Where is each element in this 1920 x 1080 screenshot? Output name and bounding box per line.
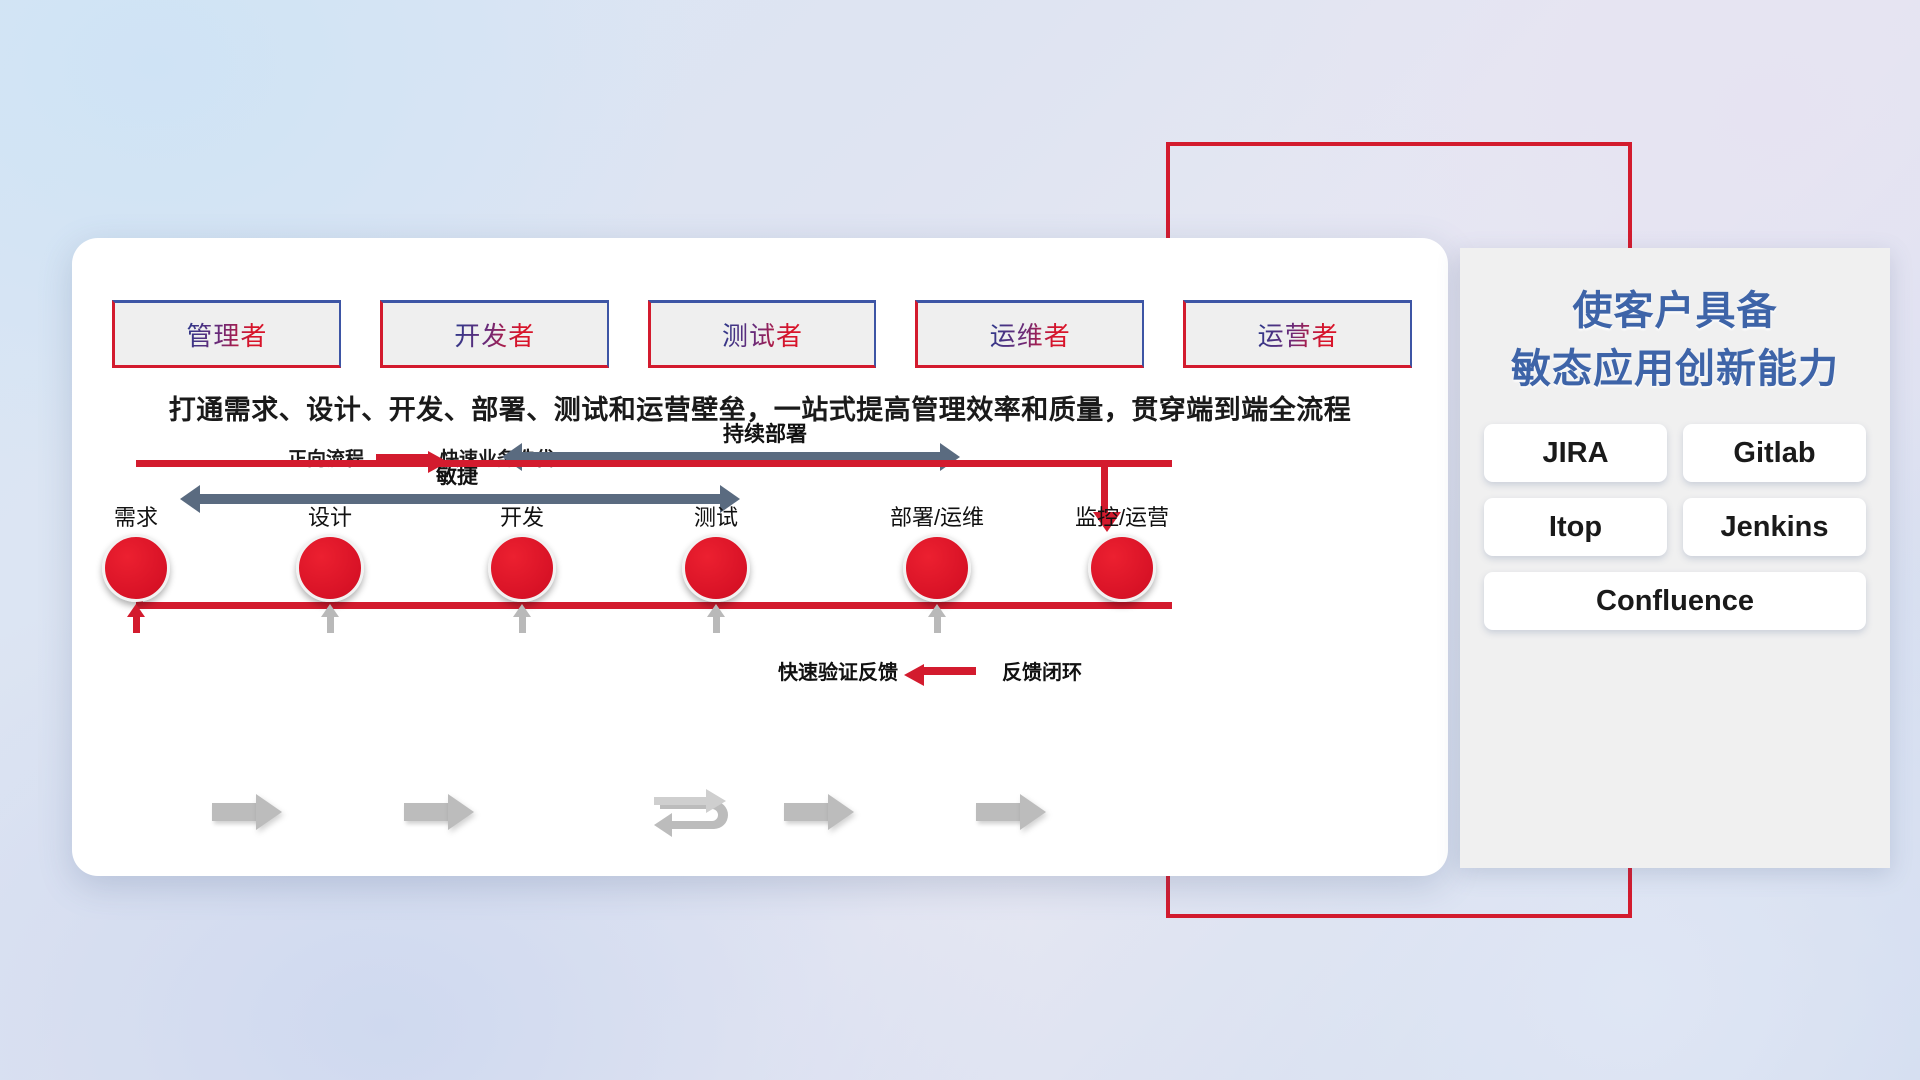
stage-dot-icon — [903, 534, 971, 602]
stage-tick-icon — [707, 604, 725, 617]
tool-label: Jenkins — [1721, 511, 1829, 544]
role-box-operator[interactable]: 运营者 — [1183, 300, 1412, 368]
role-box-developer[interactable]: 开发者 — [380, 300, 609, 368]
stage-tick-icon — [321, 604, 339, 617]
role-label: 管理者 — [186, 316, 267, 353]
stage-dot-icon — [682, 534, 750, 602]
stage-tick-stem — [133, 617, 140, 633]
continuous-deployment-label: 持续部署 — [723, 418, 807, 448]
connector-arrow-4-icon — [784, 803, 830, 821]
pipeline-stage-design[interactable]: 设计 — [290, 500, 370, 633]
role-label: 运维者 — [990, 316, 1071, 353]
tool-grid: JIRA Gitlab Itop Jenkins Confluence — [1460, 402, 1890, 630]
role-label: 运营者 — [1258, 316, 1339, 353]
stage-tick-stem — [327, 617, 334, 633]
tool-label: Itop — [1549, 511, 1602, 544]
pipeline-stage-requirement[interactable]: 需求 — [96, 500, 176, 633]
panel-title-line1: 使客户具备 — [1470, 282, 1880, 340]
connector-arrow-2-icon — [404, 803, 450, 821]
red-bracket-bottom — [1166, 914, 1632, 918]
red-arrow-left-icon — [924, 667, 976, 675]
pipeline-stage-develop[interactable]: 开发 — [482, 500, 562, 633]
connector-arrow-5-icon — [976, 803, 1022, 821]
stage-label: 部署/运维 — [862, 500, 1012, 532]
tool-label: JIRA — [1542, 437, 1608, 470]
stage-label: 测试 — [676, 500, 756, 532]
stage-label: 监控/运营 — [1027, 500, 1217, 532]
pipeline-stage-deploy-ops[interactable]: 部署/运维 — [862, 500, 1012, 633]
role-box-manager[interactable]: 管理者 — [112, 300, 341, 368]
tool-label: Gitlab — [1733, 437, 1815, 470]
panel-title-line2: 敏态应用创新能力 — [1470, 340, 1880, 398]
pipeline: 需求 设计 开发 测试 部署/运维 — [72, 500, 1448, 620]
stage-tick-icon — [928, 604, 946, 617]
role-box-ops[interactable]: 运维者 — [915, 300, 1144, 368]
stage-tick-stem — [934, 617, 941, 633]
feedback-to-label: 快速验证反馈 — [778, 656, 898, 685]
red-bracket-right-top — [1628, 142, 1632, 252]
stage-tick-stem — [519, 617, 526, 633]
dev-test-loop-arrow-icon — [652, 785, 744, 847]
tool-chip-gitlab[interactable]: Gitlab — [1683, 424, 1866, 482]
main-card: 管理者 开发者 测试者 运维者 运营者 打通需求、设计、开发、部署、测试和运营壁… — [72, 238, 1448, 876]
tool-chip-itop[interactable]: Itop — [1484, 498, 1667, 556]
stage-tick-stem — [713, 617, 720, 633]
tool-label: Confluence — [1596, 585, 1754, 618]
stage-dot-icon — [1088, 534, 1156, 602]
stage-label: 开发 — [482, 500, 562, 532]
stage-tick-icon — [127, 604, 145, 617]
stage-dot-icon — [102, 534, 170, 602]
stage-tick-icon — [513, 604, 531, 617]
stage-dot-icon — [488, 534, 556, 602]
role-box-tester[interactable]: 测试者 — [648, 300, 877, 368]
feedback-legend: 快速验证反馈 反馈闭环 — [778, 656, 1082, 685]
panel-title: 使客户具备 敏态应用创新能力 — [1460, 248, 1890, 402]
connector-arrow-1-icon — [212, 803, 258, 821]
role-label: 测试者 — [722, 316, 803, 353]
stage-label: 设计 — [290, 500, 370, 532]
feedback-from-label: 反馈闭环 — [1002, 656, 1082, 685]
stage-dot-icon — [296, 534, 364, 602]
role-row: 管理者 开发者 测试者 运维者 运营者 — [112, 300, 1412, 368]
role-label: 开发者 — [454, 316, 535, 353]
stage-label: 需求 — [96, 500, 176, 532]
pipeline-stage-test[interactable]: 测试 — [676, 500, 756, 633]
right-panel: 使客户具备 敏态应用创新能力 JIRA Gitlab Itop Jenkins … — [1460, 248, 1890, 868]
tool-chip-jenkins[interactable]: Jenkins — [1683, 498, 1866, 556]
feedback-loop-top — [136, 460, 1172, 467]
tool-chip-jira[interactable]: JIRA — [1484, 424, 1667, 482]
tool-chip-confluence[interactable]: Confluence — [1484, 572, 1866, 630]
pipeline-stage-monitor-operate[interactable]: 监控/运营 — [1027, 500, 1217, 602]
red-bracket-top — [1166, 142, 1632, 146]
